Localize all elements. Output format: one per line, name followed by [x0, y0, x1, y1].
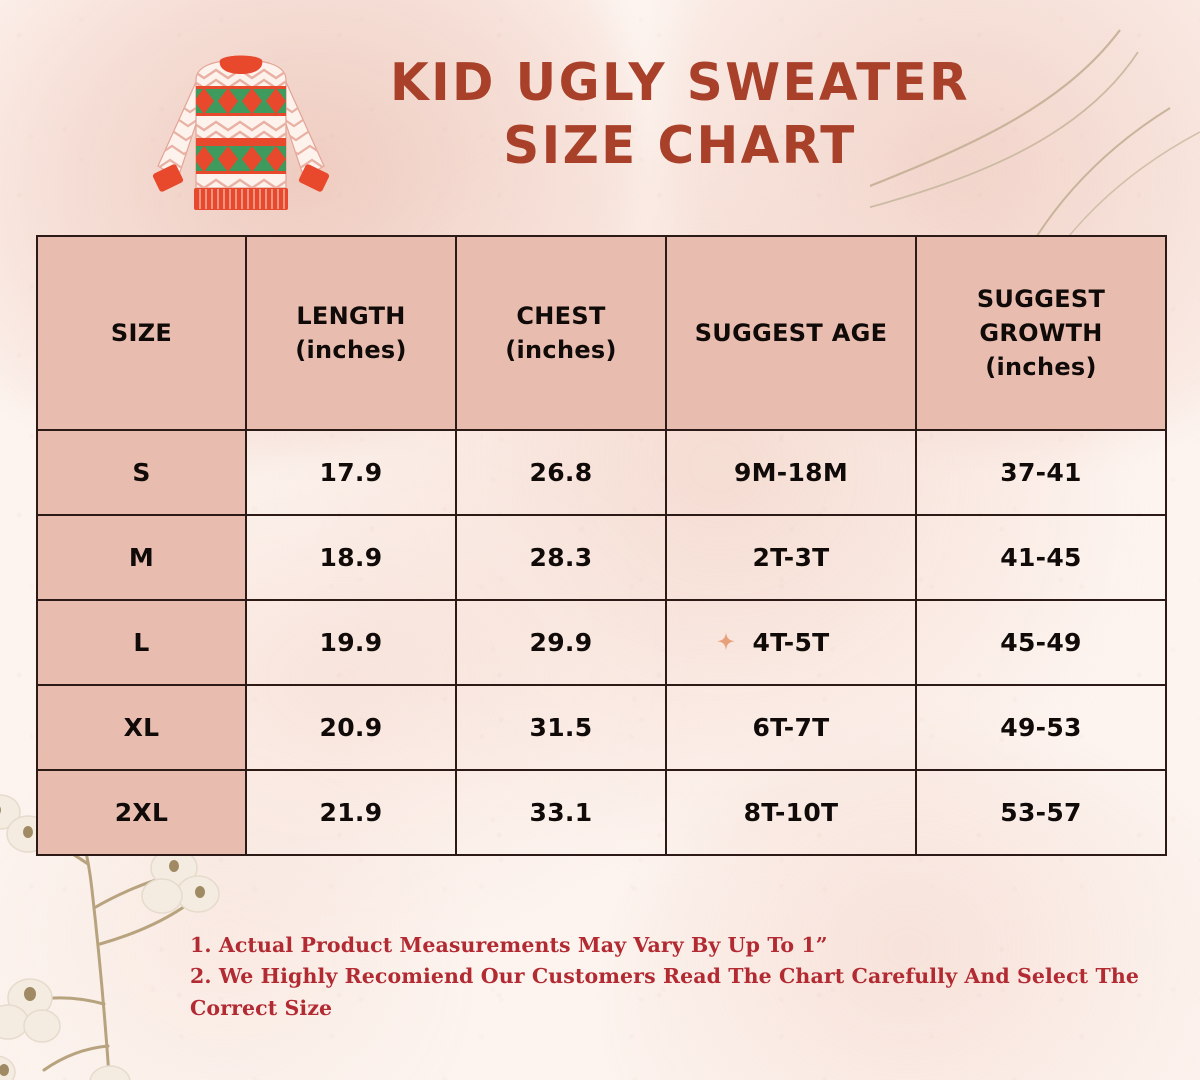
title-line-2: SIZE CHART: [373, 115, 987, 178]
cell-size: M: [37, 515, 246, 600]
cell-suggest-age: 2T-3T: [666, 515, 916, 600]
cell-size: L: [37, 600, 246, 685]
cell-size: 2XL: [37, 770, 246, 855]
table-row: L 19.9 29.9 4T-5T 45-49: [37, 600, 1166, 685]
cell-length: 20.9: [246, 685, 456, 770]
table-row: S 17.9 26.8 9M-18M 37-41: [37, 430, 1166, 515]
sweater-illustration: [134, 46, 349, 226]
cell-chest: 28.3: [456, 515, 666, 600]
header-label-growth-1: SUGGEST: [927, 282, 1155, 316]
header-unit-growth: (inches): [927, 350, 1155, 384]
table-row: M 18.9 28.3 2T-3T 41-45: [37, 515, 1166, 600]
footer-notes: 1. Actual Product Measurements May Vary …: [190, 930, 1185, 1024]
cell-suggest-growth: 53-57: [916, 770, 1166, 855]
cell-suggest-growth: 49-53: [916, 685, 1166, 770]
cell-size: S: [37, 430, 246, 515]
header-label-suggest-age: SUGGEST AGE: [695, 319, 888, 347]
column-header-length: LENGTH (inches): [246, 236, 456, 430]
table-header-row: SIZE LENGTH (inches) CHEST (inches) SUGG…: [37, 236, 1166, 430]
header-unit-length: (inches): [257, 333, 445, 367]
ugly-sweater-icon: [134, 46, 349, 226]
table-row: 2XL 21.9 33.1 8T-10T 53-57: [37, 770, 1166, 855]
cell-suggest-age: 6T-7T: [666, 685, 916, 770]
cell-suggest-growth: 37-41: [916, 430, 1166, 515]
header-unit-chest: (inches): [467, 333, 655, 367]
cell-length: 19.9: [246, 600, 456, 685]
column-header-suggest-age: SUGGEST AGE: [666, 236, 916, 430]
sparkle-icon: [717, 632, 735, 650]
title-line-1: KID UGLY SWEATER: [373, 52, 987, 115]
cell-suggest-age: 8T-10T: [666, 770, 916, 855]
header-label-chest: CHEST: [467, 299, 655, 333]
cell-chest: 33.1: [456, 770, 666, 855]
size-chart-page: KID UGLY SWEATER SIZE CHART SIZE LENGTH …: [0, 0, 1200, 1080]
header-label-length: LENGTH: [257, 299, 445, 333]
cell-suggest-age: 4T-5T: [666, 600, 916, 685]
header-label-size: SIZE: [111, 319, 172, 347]
cell-chest: 26.8: [456, 430, 666, 515]
footer-note-1: 1. Actual Product Measurements May Vary …: [190, 930, 1185, 961]
cell-suggest-growth: 41-45: [916, 515, 1166, 600]
cell-size: XL: [37, 685, 246, 770]
size-chart-table: SIZE LENGTH (inches) CHEST (inches) SUGG…: [36, 235, 1167, 856]
page-title: KID UGLY SWEATER SIZE CHART: [360, 52, 1000, 179]
cell-length: 17.9: [246, 430, 456, 515]
cell-length: 21.9: [246, 770, 456, 855]
table-body: S 17.9 26.8 9M-18M 37-41 M 18.9 28.3 2T-…: [37, 430, 1166, 855]
column-header-chest: CHEST (inches): [456, 236, 666, 430]
cell-chest: 31.5: [456, 685, 666, 770]
cell-chest: 29.9: [456, 600, 666, 685]
column-header-suggest-growth: SUGGEST GROWTH (inches): [916, 236, 1166, 430]
cell-suggest-age-label: 4T-5T: [752, 628, 829, 657]
header-label-growth-2: GROWTH: [927, 316, 1155, 350]
footer-note-2: 2. We Highly Recomiend Our Customers Rea…: [190, 961, 1185, 1024]
column-header-size: SIZE: [37, 236, 246, 430]
table-row: XL 20.9 31.5 6T-7T 49-53: [37, 685, 1166, 770]
cell-suggest-age: 9M-18M: [666, 430, 916, 515]
cell-length: 18.9: [246, 515, 456, 600]
cell-suggest-growth: 45-49: [916, 600, 1166, 685]
